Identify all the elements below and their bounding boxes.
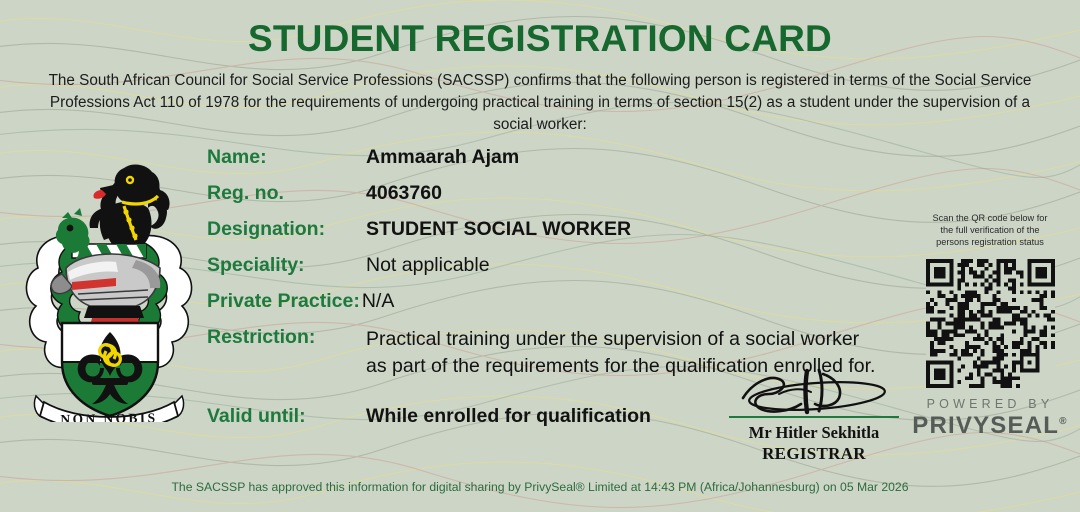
qr-caption-line-1: Scan the QR code below for <box>908 212 1072 224</box>
field-row-reg-no: Reg. no.4063760 <box>207 182 442 205</box>
qr-code-icon[interactable] <box>926 259 1055 388</box>
qr-caption-line-3: persons registration status <box>908 236 1072 248</box>
brand-text: PRIVYSEAL <box>912 412 1059 439</box>
field-label-designation: Designation: <box>207 218 366 241</box>
field-row-speciality: Speciality:Not applicable <box>207 254 490 277</box>
qr-caption-line-2: the full verification of the <box>908 224 1072 236</box>
privyseal-brand: PRIVYSEAL® <box>908 412 1072 440</box>
field-value-valid-until: While enrolled for qualification <box>366 405 651 427</box>
signatory-role: REGISTRAR <box>700 443 928 465</box>
restriction-line-1: Practical training under the supervision… <box>366 326 896 353</box>
field-value-speciality: Not applicable <box>366 254 490 276</box>
registered-mark: ® <box>1059 416 1068 427</box>
field-value-reg-no: 4063760 <box>366 182 442 204</box>
footer-approval-text: The SACSSP has approved this information… <box>0 480 1080 494</box>
field-label-reg-no: Reg. no. <box>207 182 366 205</box>
field-row-private-practice: Private Practice:N/A <box>207 290 394 313</box>
field-label-private-practice: Private Practice: <box>207 290 360 313</box>
field-value-private-practice: N/A <box>362 290 395 312</box>
field-value-name: Ammaarah Ajam <box>366 146 519 168</box>
field-row-designation: Designation:STUDENT SOCIAL WORKER <box>207 218 631 241</box>
page-title: STUDENT REGISTRATION CARD <box>0 18 1080 60</box>
field-row-name: Name:Ammaarah Ajam <box>207 146 519 169</box>
field-row-valid-until: Valid until:While enrolled for qualifica… <box>207 405 651 428</box>
powered-by-label: POWERED BY <box>908 397 1072 411</box>
field-label-name: Name: <box>207 146 366 169</box>
field-row-restriction: Restriction: <box>207 326 366 349</box>
qr-verification-panel: Scan the QR code below for the full veri… <box>908 212 1072 440</box>
qr-code[interactable] <box>926 259 1055 388</box>
field-label-restriction: Restriction: <box>207 326 366 349</box>
signature-rule <box>729 416 899 418</box>
qr-instruction-text: Scan the QR code below for the full veri… <box>908 212 1072 249</box>
signature-block: Mr Hitler Sekhitla REGISTRAR <box>700 368 928 465</box>
student-registration-card: STUDENT REGISTRATION CARD The South Afri… <box>0 0 1080 512</box>
sacssp-coat-of-arms-icon: NON NOBIS <box>18 140 200 422</box>
emblem-motto: NON NOBIS <box>60 410 157 422</box>
field-label-speciality: Speciality: <box>207 254 366 277</box>
intro-paragraph: The South African Council for Social Ser… <box>32 70 1048 136</box>
field-label-valid-until: Valid until: <box>207 405 366 428</box>
field-value-designation: STUDENT SOCIAL WORKER <box>366 218 631 240</box>
handwritten-signature-icon <box>719 368 909 416</box>
signatory-name: Mr Hitler Sekhitla <box>700 422 928 443</box>
